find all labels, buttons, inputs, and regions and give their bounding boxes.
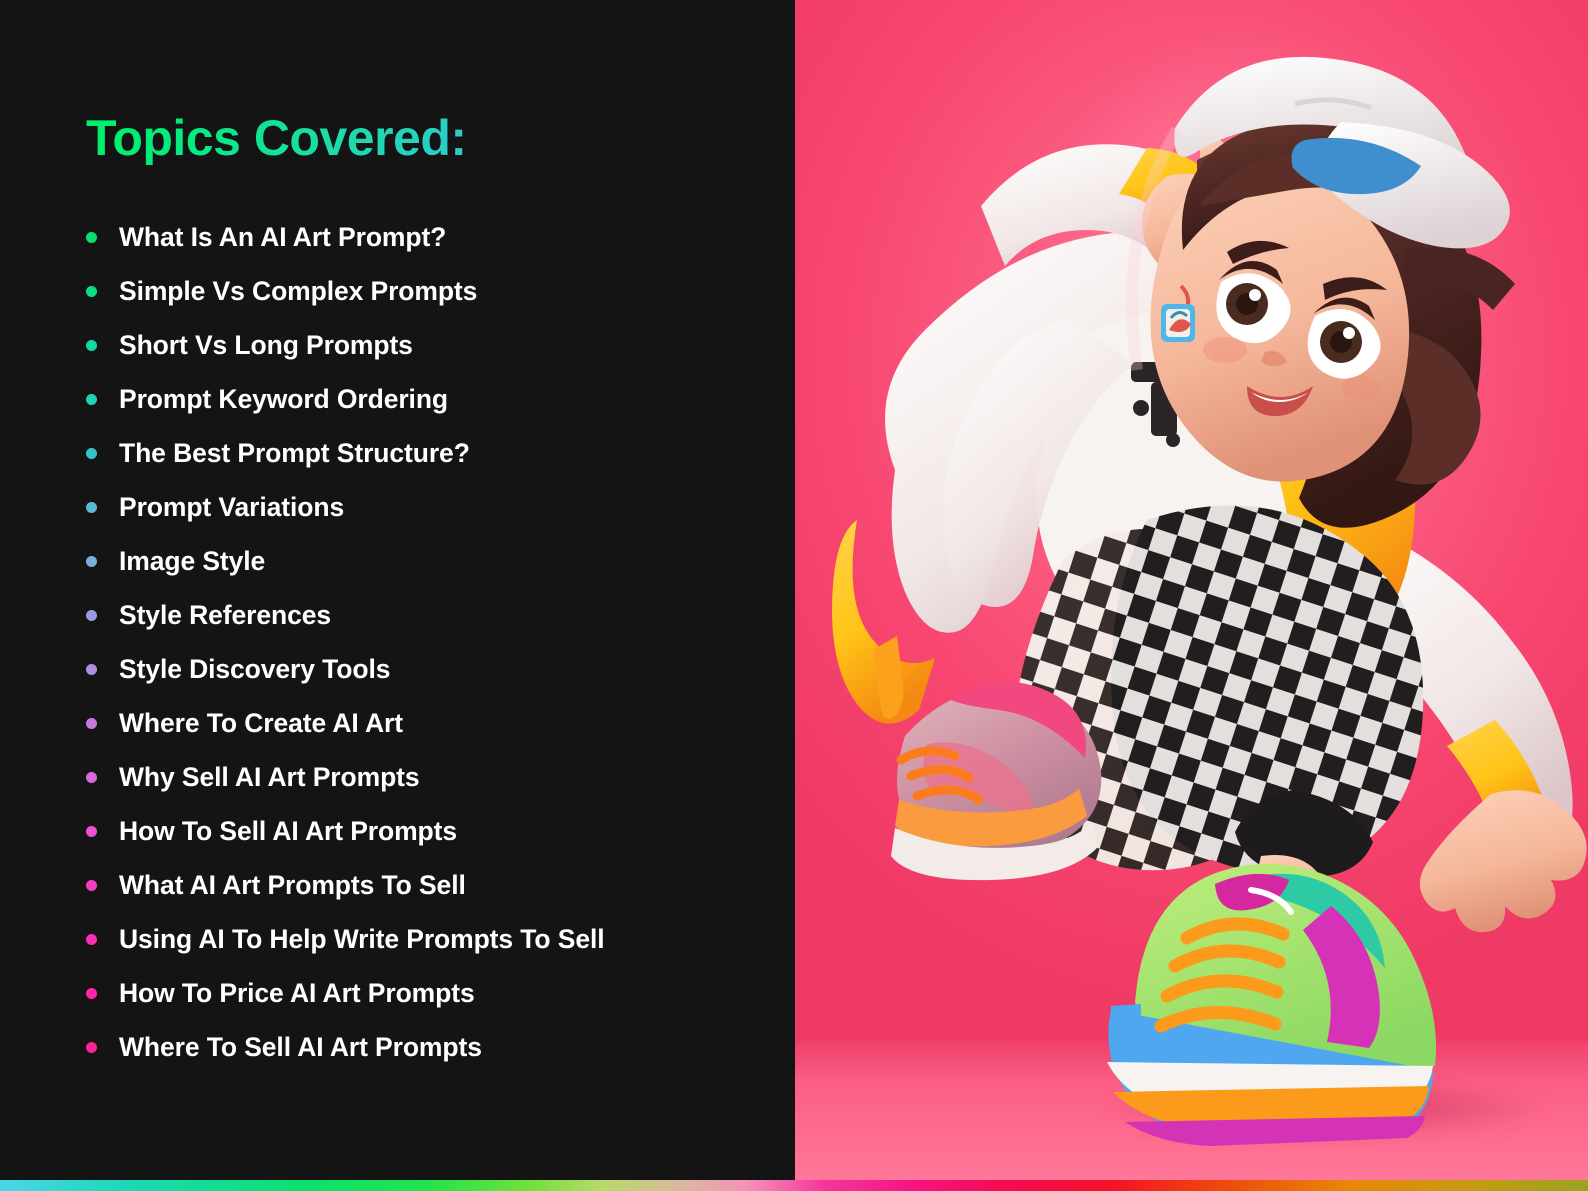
left-blush — [1203, 337, 1247, 363]
slide: Topics Covered: What Is An AI Art Prompt… — [0, 0, 1588, 1191]
list-item[interactable]: What AI Art Prompts To Sell — [86, 859, 795, 913]
list-item[interactable]: How To Sell AI Art Prompts — [86, 805, 795, 859]
list-item[interactable]: Why Sell AI Art Prompts — [86, 751, 795, 805]
bullet-icon — [86, 772, 97, 783]
list-item[interactable]: Using AI To Help Write Prompts To Sell — [86, 913, 795, 967]
list-item[interactable]: Style References — [86, 589, 795, 643]
bullet-icon — [86, 664, 97, 675]
list-item[interactable]: Where To Sell AI Art Prompts — [86, 1021, 795, 1075]
bullet-icon — [86, 394, 97, 405]
list-item[interactable]: Style Discovery Tools — [86, 643, 795, 697]
left-sneaker — [891, 682, 1101, 880]
topics-list: What Is An AI Art Prompt? Simple Vs Comp… — [86, 211, 795, 1075]
list-item-label: Where To Sell AI Art Prompts — [119, 1032, 482, 1063]
list-item-label: Image Style — [119, 546, 265, 577]
list-item-label: Where To Create AI Art — [119, 708, 403, 739]
bullet-icon — [86, 826, 97, 837]
bottom-accent-bar — [0, 1180, 1588, 1191]
character-illustration — [795, 0, 1588, 1191]
right-hand — [1420, 790, 1587, 932]
list-item[interactable]: Prompt Variations — [86, 481, 795, 535]
list-item-label: Why Sell AI Art Prompts — [119, 762, 420, 793]
topics-panel: Topics Covered: What Is An AI Art Prompt… — [0, 0, 795, 1191]
bullet-icon — [86, 232, 97, 243]
list-item[interactable]: Simple Vs Complex Prompts — [86, 265, 795, 319]
bullet-icon — [86, 934, 97, 945]
bullet-icon — [86, 880, 97, 891]
list-item-label: Style References — [119, 600, 331, 631]
right-blush — [1341, 376, 1381, 400]
list-item-label: Short Vs Long Prompts — [119, 330, 413, 361]
list-item[interactable]: Where To Create AI Art — [86, 697, 795, 751]
page-title: Topics Covered: — [86, 112, 467, 165]
bullet-icon — [86, 340, 97, 351]
list-item[interactable]: What Is An AI Art Prompt? — [86, 211, 795, 265]
list-item-label: What AI Art Prompts To Sell — [119, 870, 466, 901]
bullet-icon — [86, 718, 97, 729]
bullet-icon — [86, 502, 97, 513]
list-item-label: The Best Prompt Structure? — [119, 438, 470, 469]
bullet-icon — [86, 1042, 97, 1053]
list-item-label: Prompt Keyword Ordering — [119, 384, 448, 415]
list-item-label: Simple Vs Complex Prompts — [119, 276, 477, 307]
list-item[interactable]: The Best Prompt Structure? — [86, 427, 795, 481]
list-item[interactable]: Short Vs Long Prompts — [86, 319, 795, 373]
bullet-icon — [86, 988, 97, 999]
list-item-label: Style Discovery Tools — [119, 654, 390, 685]
list-item[interactable]: Prompt Keyword Ordering — [86, 373, 795, 427]
bullet-icon — [86, 286, 97, 297]
bullet-icon — [86, 556, 97, 567]
list-item-label: How To Price AI Art Prompts — [119, 978, 475, 1009]
hero-image-panel — [795, 0, 1588, 1191]
right-eye — [1308, 298, 1381, 379]
list-item-label: What Is An AI Art Prompt? — [119, 222, 446, 253]
list-item-label: Using AI To Help Write Prompts To Sell — [119, 924, 605, 955]
bullet-icon — [86, 448, 97, 459]
list-item[interactable]: How To Price AI Art Prompts — [86, 967, 795, 1021]
list-item-label: How To Sell AI Art Prompts — [119, 816, 457, 847]
list-item-label: Prompt Variations — [119, 492, 344, 523]
list-item[interactable]: Image Style — [86, 535, 795, 589]
bullet-icon — [86, 610, 97, 621]
right-sneaker — [1107, 864, 1436, 1146]
